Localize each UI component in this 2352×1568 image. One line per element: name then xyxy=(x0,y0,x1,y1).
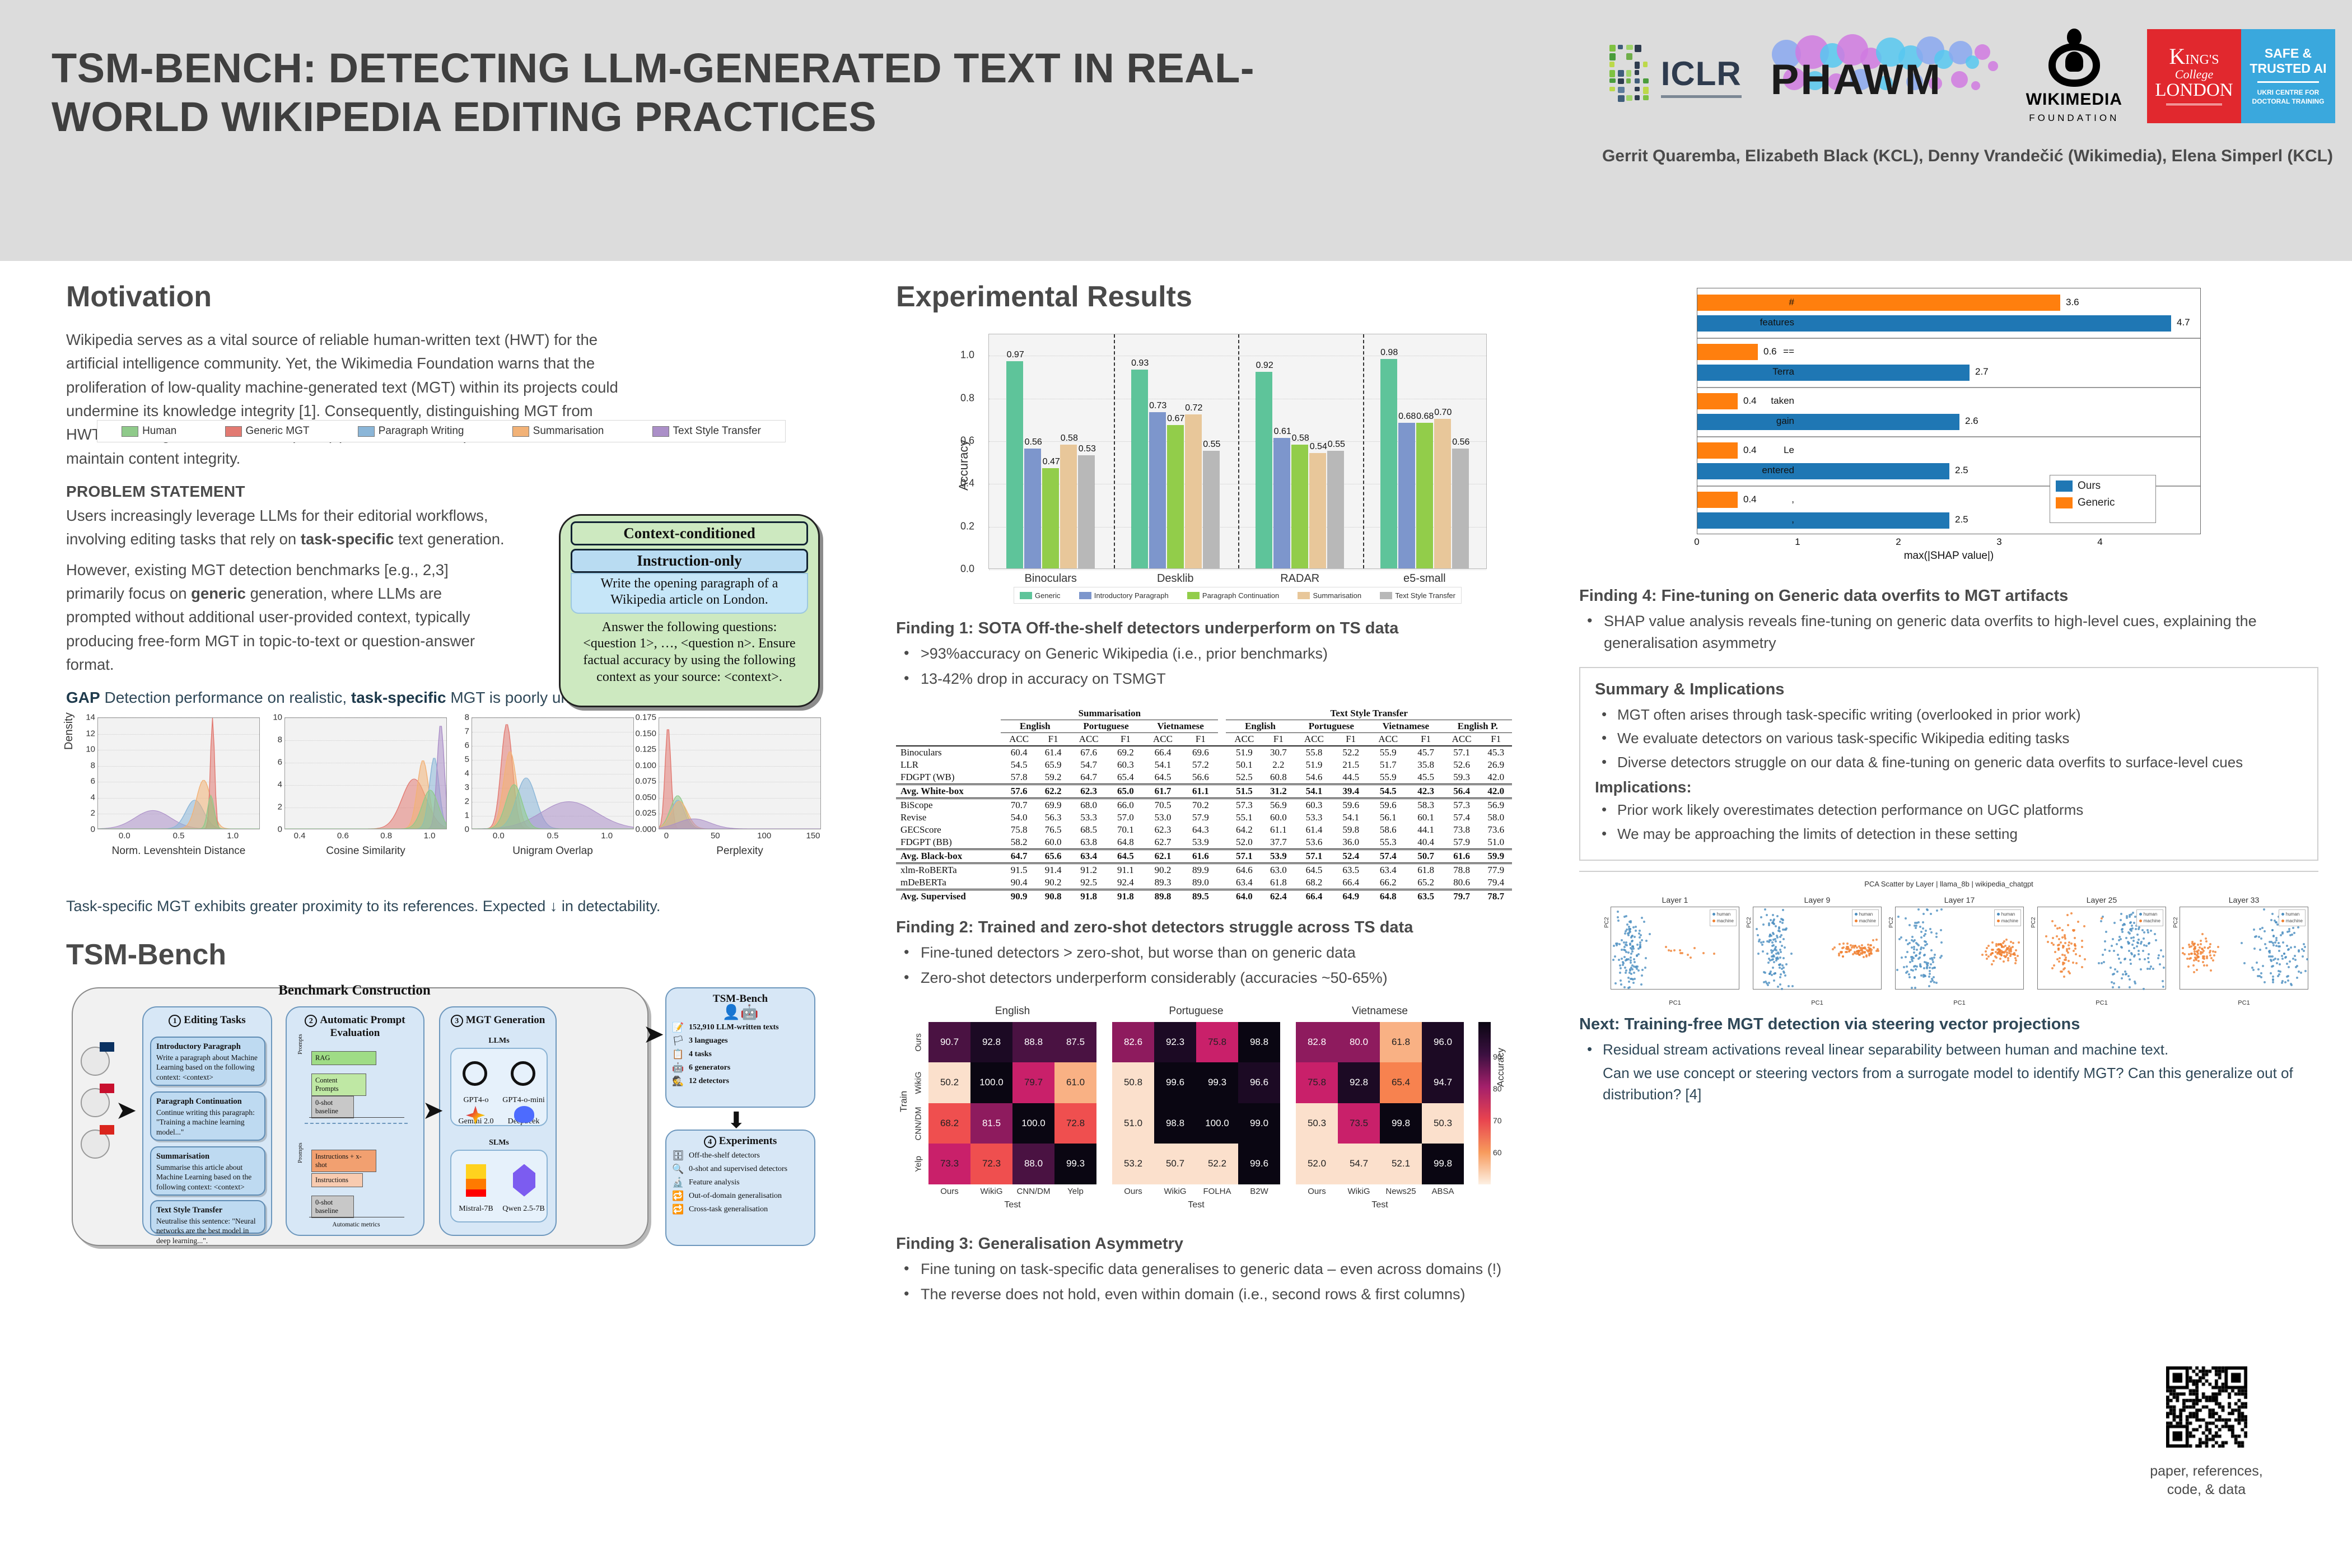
heatmap-panel-title: Portuguese xyxy=(1112,1005,1280,1018)
table-cell: 80.6 xyxy=(1444,876,1480,890)
density-panel xyxy=(472,717,634,829)
llm-name: GPT4-o-mini xyxy=(500,1096,548,1105)
heatmap-cell: 99.8 xyxy=(1380,1103,1422,1144)
finding-4-bullets: SHAP value analysis reveals fine-tuning … xyxy=(1579,610,2318,655)
heatmap-cell: 98.8 xyxy=(1238,1022,1280,1063)
table-cell: 45.3 xyxy=(1480,746,1512,759)
table-cell: 89.9 xyxy=(1183,863,1218,876)
table-cell: 90.4 xyxy=(1001,876,1037,890)
legend-swatch xyxy=(512,426,529,437)
kcl-london: LONDON xyxy=(2155,81,2233,100)
heatmap-cell: 100.0 xyxy=(970,1062,1012,1103)
density-xlabel: Perplexity xyxy=(659,845,821,857)
table-row: Avg. Black-box64.765.663.464.562.161.657… xyxy=(896,849,1512,863)
legend-entry: human xyxy=(2281,911,2303,918)
heatmap-col-label: CNN/DM xyxy=(1017,1187,1051,1196)
density-panel xyxy=(659,717,821,829)
bar xyxy=(1006,361,1023,568)
wikimedia-wordmark: WIKIMEDIA xyxy=(2026,90,2122,109)
kcl-college: College xyxy=(2175,68,2213,81)
pca-xlabel: PC1 xyxy=(2180,1000,2308,1006)
heatmap-col-label: Ours xyxy=(940,1187,959,1196)
table-cell: 63.5 xyxy=(1333,863,1368,876)
document-icon: 📝 xyxy=(672,1022,684,1033)
table-cell: 54.1 xyxy=(1333,811,1368,824)
table-cell: 77.9 xyxy=(1480,863,1512,876)
legend-label: Text Style Transfer xyxy=(1395,591,1455,600)
legend-swatch xyxy=(2056,497,2073,508)
task-body: Summarise this article about Machine Lea… xyxy=(156,1163,251,1191)
bar xyxy=(1024,449,1041,568)
legend-swatch xyxy=(225,426,242,437)
shap-bar-ours xyxy=(1697,512,1949,529)
table-cell: 57.4 xyxy=(1444,811,1480,824)
summary-bullets: MGT often arises through task-specific w… xyxy=(1595,704,2303,773)
motivation-heading: Motivation xyxy=(66,280,816,314)
legend-swatch xyxy=(1712,913,1715,916)
stage-1-header: 1Editing Tasks xyxy=(143,1007,271,1027)
bar xyxy=(1131,370,1148,568)
legend-label: Generic xyxy=(2078,497,2115,509)
table-cell: 55.3 xyxy=(1368,836,1408,850)
experiment-item: 🔍0-shot and supervised detectors xyxy=(672,1164,814,1175)
prompt-bar: Instructions + x-shot xyxy=(311,1150,376,1172)
shap-token-label: gain xyxy=(1776,416,1794,427)
experiment-text: 0-shot and supervised detectors xyxy=(689,1165,787,1174)
table-cell: 61.8 xyxy=(1262,876,1294,890)
experiment-text: Out-of-domain generalisation xyxy=(689,1192,782,1201)
stage-mgt-generation: 3MGT Generation LLMs GPT4-o GPT4-o-mini … xyxy=(439,1006,557,1236)
table-cell: 65.6 xyxy=(1037,849,1069,863)
spacer-cell xyxy=(1218,863,1226,876)
table-cell: 57.8 xyxy=(1001,771,1037,785)
bench-fact: 📝152,910 LLM-written texts xyxy=(672,1022,814,1033)
bar-value-label: 0.56 xyxy=(1452,437,1469,447)
heatmap-cell: 94.7 xyxy=(1422,1062,1464,1103)
table-lang-header-row: EnglishPortugueseVietnameseEnglishPortug… xyxy=(896,720,1512,732)
legend-entry: human xyxy=(1855,911,1876,918)
openai-icon xyxy=(463,1061,487,1086)
table-cell: 54.5 xyxy=(1001,759,1037,771)
shap-bar-ours xyxy=(1697,414,1959,431)
heatmap-row-label: Yelp xyxy=(914,1147,923,1181)
results-table-body: Binoculars60.461.467.669.266.469.651.930… xyxy=(896,746,1512,903)
qr-code-icon[interactable] xyxy=(2166,1366,2247,1448)
table-cell: 57.9 xyxy=(1444,836,1480,850)
heatmap-cell: 82.8 xyxy=(1296,1022,1338,1063)
group-header: Text Style Transfer xyxy=(1226,707,1512,720)
table-cell: 44.1 xyxy=(1408,824,1444,836)
legend-swatch xyxy=(1187,592,1200,599)
table-cell: 57.1 xyxy=(1444,746,1480,759)
legend-label: human xyxy=(2001,912,2015,917)
finding-2: Finding 2: Trained and zero-shot detecto… xyxy=(896,918,1568,990)
shap-bar-generic xyxy=(1697,393,1738,410)
bar xyxy=(1273,438,1290,568)
heatmap-row-label: WikiG xyxy=(914,1066,923,1100)
safe-trusted-ai-logo: SAFE & TRUSTED AI UKRI CENTRE FOR DOCTOR… xyxy=(2241,29,2335,123)
metric-header: F1 xyxy=(1037,732,1069,746)
spacer-cell xyxy=(1218,876,1226,890)
shap-value-label: 0.4 xyxy=(1743,395,1757,407)
spacer-cell xyxy=(1218,811,1226,824)
metric-header: ACC xyxy=(1069,732,1108,746)
table-row: LLR54.565.954.760.354.157.250.12.251.921… xyxy=(896,759,1512,771)
bench-fact-text: 3 languages xyxy=(689,1037,728,1046)
table-row: FDGPT (WB)57.859.264.765.464.556.652.560… xyxy=(896,771,1512,785)
bar-value-label: 0.67 xyxy=(1167,414,1184,424)
implications-bullets: Prior work likely overestimates detectio… xyxy=(1595,800,2303,844)
table-cell: 78.7 xyxy=(1480,889,1512,903)
shap-bar-generic xyxy=(1697,344,1758,361)
density-xlabel: Unigram Overlap xyxy=(472,845,634,857)
legend-label: machine xyxy=(2001,918,2018,923)
sync-icon: 🔁 xyxy=(672,1191,684,1202)
table-cell: 91.5 xyxy=(1001,863,1037,876)
row-label: Binoculars xyxy=(896,746,1001,759)
experiment-text: Cross-task generalisation xyxy=(689,1205,768,1214)
detective-icon: 🕵 xyxy=(672,1076,684,1087)
legend-entry: Generic xyxy=(1020,591,1061,600)
heatmap-cell: 100.0 xyxy=(1012,1103,1054,1144)
lang-header: Vietnamese xyxy=(1143,720,1219,732)
heatmap-cell: 52.2 xyxy=(1196,1144,1238,1184)
table-cell: 73.8 xyxy=(1444,824,1480,836)
legend-entry: machine xyxy=(1997,918,2018,925)
pca-panel: humanmachine xyxy=(2037,907,2166,990)
table-cell: 57.2 xyxy=(1183,759,1218,771)
finding-1-title: Finding 1: SOTA Off-the-shelf detectors … xyxy=(896,619,1568,638)
spacer-cell xyxy=(1218,889,1226,903)
legend-entry: machine xyxy=(2139,918,2160,925)
shap-legend: OursGeneric xyxy=(2050,475,2156,523)
legend-swatch xyxy=(1298,592,1310,599)
openai-icon xyxy=(511,1061,535,1086)
table-cell: 53.6 xyxy=(1295,836,1334,850)
legend-swatch xyxy=(1020,592,1032,599)
table-cell: 51.9 xyxy=(1295,759,1334,771)
experiment-item: 🗄Off-the-shelf detectors xyxy=(672,1150,814,1161)
pca-ylabel: PC2 xyxy=(2031,917,2037,928)
pca-panel: humanmachine xyxy=(1611,907,1739,990)
legend-swatch xyxy=(1855,913,1858,916)
table-cell: 60.0 xyxy=(1262,811,1294,824)
shap-bar-ours xyxy=(1697,365,1970,381)
table-cell: 52.0 xyxy=(1226,836,1262,850)
bar xyxy=(1416,423,1433,568)
bar xyxy=(1185,414,1202,568)
stage-3-number: 3 xyxy=(451,1015,463,1027)
logo-row: ICLR PHAWM WIKIMEDIA FOUNDATION KING'S C… xyxy=(1609,20,2335,132)
legend-label: Ours xyxy=(2078,480,2101,492)
shap-token-label: Le xyxy=(1784,445,1794,456)
table-cell: 60.8 xyxy=(1262,771,1294,785)
automatic-metrics-label: Automatic metrics xyxy=(287,1221,426,1228)
spacer-cell xyxy=(1218,771,1226,785)
stage-prompt-evaluation: 2Automatic Prompt Evaluation Prompts RAG… xyxy=(286,1006,424,1236)
metric-header: ACC xyxy=(1143,732,1183,746)
legend-entry: Introductory Paragraph xyxy=(1079,591,1169,600)
tsm-bench-summary-box: TSM-Bench 👤🤖 📝152,910 LLM-written texts … xyxy=(665,987,815,1108)
table-cell: 59.2 xyxy=(1037,771,1069,785)
bar xyxy=(1167,425,1184,568)
shap-token-label: taken xyxy=(1771,395,1794,407)
table-group-header-row: SummarisationText Style Transfer xyxy=(896,707,1512,720)
human-machine-icon: 👤🤖 xyxy=(666,1005,814,1020)
bench-fact: 🕵12 detectors xyxy=(672,1076,814,1087)
table-cell: 64.0 xyxy=(1226,889,1262,903)
table-cell: 53.3 xyxy=(1295,811,1334,824)
table-cell: 62.3 xyxy=(1069,784,1108,798)
experiments-title: Experiments xyxy=(719,1135,777,1147)
table-cell: 60.3 xyxy=(1108,759,1143,771)
table-cell: 60.4 xyxy=(1001,746,1037,759)
arrow-icon: ➤ xyxy=(643,1019,665,1049)
task-card: Paragraph Continuation Continue writing … xyxy=(150,1091,265,1141)
bar-value-label: 0.55 xyxy=(1328,440,1345,450)
heatmap-cell: 99.0 xyxy=(1238,1103,1280,1144)
heatmap-cell: 50.8 xyxy=(1112,1062,1154,1103)
experiment-text: Off-the-shelf detectors xyxy=(689,1151,760,1160)
shap-bar-generic xyxy=(1697,442,1738,459)
heatmap-cell: 92.8 xyxy=(970,1022,1012,1063)
row-label: GECScore xyxy=(896,824,1001,836)
bar-value-label: 0.58 xyxy=(1292,433,1309,444)
spacer-cell xyxy=(1218,849,1226,863)
density-yticks: 0246810 xyxy=(255,717,282,829)
finding-bullet: >93%accuracy on Generic Wikipedia (i.e.,… xyxy=(896,643,1568,665)
heatmap-cell: 50.7 xyxy=(1154,1144,1196,1184)
heatmap-row-label: Ours xyxy=(914,1025,923,1059)
legend-swatch xyxy=(2281,913,2284,916)
table-cell: 70.2 xyxy=(1183,798,1218,811)
table-cell: 61.8 xyxy=(1408,863,1444,876)
heatmap-cell: 61.0 xyxy=(1054,1062,1096,1103)
legend-label: Text Style Transfer xyxy=(673,425,761,437)
table-cell: 51.7 xyxy=(1368,759,1408,771)
table-cell: 42.3 xyxy=(1408,784,1444,798)
flags-icon: 🏳 xyxy=(672,1035,684,1047)
finding-3-title: Finding 3: Generalisation Asymmetry xyxy=(896,1235,1568,1253)
bar-chart-ytick: 0.4 xyxy=(960,478,974,489)
heatmap-cell: 96.0 xyxy=(1422,1022,1464,1063)
table-row: Avg. White-box57.662.262.365.061.761.151… xyxy=(896,784,1512,798)
heatmap-col-label: Yelp xyxy=(1067,1187,1084,1196)
table-cell: 57.1 xyxy=(1295,849,1334,863)
table-cell: 64.3 xyxy=(1183,824,1218,836)
table-cell: 61.4 xyxy=(1037,746,1069,759)
table-row: Revise54.056.353.357.053.057.955.160.053… xyxy=(896,811,1512,824)
table-cell: 61.1 xyxy=(1183,784,1218,798)
legend-entry: Text Style Transfer xyxy=(1380,591,1455,600)
density-callout: Task-specific MGT exhibits greater proxi… xyxy=(66,895,816,918)
table-cell: 92.4 xyxy=(1108,876,1143,890)
table-cell: 65.9 xyxy=(1037,759,1069,771)
table-cell: 51.9 xyxy=(1226,746,1262,759)
table-cell: 68.0 xyxy=(1069,798,1108,811)
table-cell: 66.4 xyxy=(1295,889,1334,903)
table-row: xlm-RoBERTa91.591.491.291.190.289.964.66… xyxy=(896,863,1512,876)
analysis-icon: 🔬 xyxy=(672,1177,684,1188)
title-block: TSM-BENCH: DETECTING LLM-GENERATED TEXT … xyxy=(0,0,1260,142)
legend-entry: Human xyxy=(122,425,176,437)
shap-token-label: , xyxy=(1791,494,1794,505)
table-cell: 58.3 xyxy=(1408,798,1444,811)
qr-block: paper, references, code, & data xyxy=(2134,1366,2279,1499)
pca-panel-title: Layer 17 xyxy=(1895,895,2024,904)
legend-label: Human xyxy=(142,425,176,437)
heatmap-cell: 72.8 xyxy=(1054,1103,1096,1144)
shap-bar-generic xyxy=(1697,492,1738,508)
heatmap-col-label: WikiG xyxy=(981,1187,1003,1196)
table-cell: 62.1 xyxy=(1143,849,1183,863)
heatmap-ylabel: Train xyxy=(898,1091,909,1112)
legend-entry: Ours xyxy=(2056,480,2150,492)
metric-header: F1 xyxy=(1408,732,1444,746)
legend-entry: human xyxy=(1997,911,2018,918)
summary-bullet: Diverse detectors struggle on our data &… xyxy=(1595,752,2303,773)
clipboard-icon: 📋 xyxy=(672,1049,684,1060)
shap-token-label: == xyxy=(1783,346,1794,357)
table-cell: 91.8 xyxy=(1069,889,1108,903)
experiments-number: 4 xyxy=(704,1136,716,1148)
sync-icon: 🔁 xyxy=(672,1204,684,1215)
accuracy-bar-chart: 0.970.560.470.580.530.930.730.670.720.55… xyxy=(924,328,1540,608)
shap-bar-chart: 3.64.70.62.70.42.60.42.50.42.5 max(|SHAP… xyxy=(1652,280,2246,571)
heatmap-cell: 73.3 xyxy=(928,1144,970,1184)
column-right: 3.64.70.62.70.42.60.42.50.42.5 max(|SHAP… xyxy=(1579,280,2318,1108)
legend-label: human xyxy=(2144,912,2157,917)
heatmap-cell: 54.7 xyxy=(1338,1144,1380,1184)
shap-xtick: 2 xyxy=(1896,536,1901,548)
pca-legend: humanmachine xyxy=(2136,909,2163,926)
bar xyxy=(1327,451,1344,568)
problem-statement-p2: However, existing MGT detection benchmar… xyxy=(66,558,508,677)
legend-entry: Generic MGT xyxy=(225,425,310,437)
density-xlabel: Cosine Similarity xyxy=(284,845,447,857)
legend-entry: machine xyxy=(2281,918,2303,925)
task-card: Introductory Paragraph Write a paragraph… xyxy=(150,1037,265,1086)
table-cell: 55.1 xyxy=(1226,811,1262,824)
benchmark-diagram: Benchmark Construction 1Editing Tasks In xyxy=(66,979,816,1248)
table-cell: 67.6 xyxy=(1069,746,1108,759)
table-cell: 53.3 xyxy=(1069,811,1108,824)
finding-1: Finding 1: SOTA Off-the-shelf detectors … xyxy=(896,619,1568,690)
lang-header: Portuguese xyxy=(1295,720,1369,732)
heatmap-cell: 53.2 xyxy=(1112,1144,1154,1184)
tsm-bench-heading: TSM-Bench xyxy=(66,938,816,972)
heatmap-cell: 100.0 xyxy=(1196,1103,1238,1144)
pca-ylabel: PC2 xyxy=(1888,917,1894,928)
bench-fact: 🤖6 generators xyxy=(672,1062,814,1074)
metric-header: ACC xyxy=(1444,732,1480,746)
table-cell: 89.5 xyxy=(1183,889,1218,903)
bar-value-label: 0.92 xyxy=(1256,361,1273,371)
table-cell: 70.5 xyxy=(1143,798,1183,811)
pca-legend: humanmachine xyxy=(1710,909,1737,926)
bar xyxy=(1078,455,1095,568)
legend-label: machine xyxy=(2286,918,2303,923)
table-cell: 90.8 xyxy=(1037,889,1069,903)
heatmap-col-label: Ours xyxy=(1124,1187,1142,1196)
table-cell: 62.4 xyxy=(1262,889,1294,903)
prompt-bar: Content Prompts xyxy=(311,1074,366,1096)
table-cell: 68.5 xyxy=(1069,824,1108,836)
next-heading: Next: Training-free MGT detection via st… xyxy=(1579,1015,2318,1034)
legend-label: human xyxy=(1717,912,1730,917)
arrow-icon: ➤ xyxy=(422,1095,444,1125)
legend-swatch xyxy=(2139,920,2142,922)
iclr-logo: ICLR xyxy=(1609,45,1742,108)
server-icon: 🗄 xyxy=(672,1150,684,1161)
finding-2-title: Finding 2: Trained and zero-shot detecto… xyxy=(896,918,1568,937)
iclr-mark-icon xyxy=(1609,45,1653,108)
table-cell: 63.0 xyxy=(1262,863,1294,876)
pca-xlabel: PC1 xyxy=(1895,1000,2024,1006)
table-cell: 59.9 xyxy=(1480,849,1512,863)
row-label: Avg. White-box xyxy=(896,784,1001,798)
bar-value-label: 0.70 xyxy=(1434,408,1452,418)
table-cell: 54.1 xyxy=(1143,759,1183,771)
bar-category-label: e5-small xyxy=(1403,572,1446,585)
table-cell: 55.9 xyxy=(1368,746,1408,759)
table-cell: 2.2 xyxy=(1262,759,1294,771)
legend-label: Summarisation xyxy=(533,425,604,437)
row-label: LLR xyxy=(896,759,1001,771)
metric-header: F1 xyxy=(1183,732,1218,746)
table-cell: 89.8 xyxy=(1143,889,1183,903)
table-cell: 61.4 xyxy=(1295,824,1334,836)
results-table: SummarisationText Style TransferEnglishP… xyxy=(896,707,1512,903)
table-cell: 53.9 xyxy=(1183,836,1218,850)
heatmap-panel-title: English xyxy=(928,1005,1096,1018)
metric-header: F1 xyxy=(1333,732,1368,746)
next-question: Can we use concept or steering vectors f… xyxy=(1579,1063,2318,1105)
pca-legend: humanmachine xyxy=(2279,909,2306,926)
finding-4: Finding 4: Fine-tuning on Generic data o… xyxy=(1579,587,2318,655)
phawm-wordmark: PHAWM xyxy=(1771,55,1942,104)
table-cell: 44.5 xyxy=(1333,771,1368,785)
table-cell: 65.2 xyxy=(1408,876,1444,890)
heatmap-cell: 52.0 xyxy=(1296,1144,1338,1184)
table-cell: 40.4 xyxy=(1408,836,1444,850)
metric-header: F1 xyxy=(1262,732,1294,746)
finding-4-title: Finding 4: Fine-tuning on Generic data o… xyxy=(1579,587,2318,605)
finding-1-bullets: >93%accuracy on Generic Wikipedia (i.e.,… xyxy=(896,643,1568,690)
finding-bullet: Zero-shot detectors underperform conside… xyxy=(896,967,1568,989)
metric-header: ACC xyxy=(1295,732,1334,746)
legend-swatch xyxy=(2281,920,2284,922)
heatmap-cell: 90.7 xyxy=(928,1022,970,1063)
heatmap-xlabel: Test xyxy=(1004,1200,1020,1210)
bar xyxy=(1203,451,1220,568)
bar xyxy=(1060,445,1077,568)
heatmap-cell: 81.5 xyxy=(970,1103,1012,1144)
table-cell: 60.1 xyxy=(1408,811,1444,824)
kcl-rule xyxy=(2166,104,2222,107)
shap-xlabel: max(|SHAP value|) xyxy=(1904,550,1994,562)
heatmap-cell: 98.8 xyxy=(1154,1103,1196,1144)
stage-2-header: 2Automatic Prompt Evaluation xyxy=(287,1007,423,1040)
table-cell: 56.3 xyxy=(1037,811,1069,824)
problem-statement-heading: PROBLEM STATEMENT xyxy=(66,483,816,501)
table-cell: 91.8 xyxy=(1108,889,1143,903)
table-cell: 70.7 xyxy=(1001,798,1037,811)
bar-chart-ytick: 0.6 xyxy=(960,435,974,446)
bar xyxy=(1398,423,1415,568)
pca-panel: humanmachine xyxy=(1753,907,1882,990)
bar-value-label: 0.97 xyxy=(1007,350,1024,360)
